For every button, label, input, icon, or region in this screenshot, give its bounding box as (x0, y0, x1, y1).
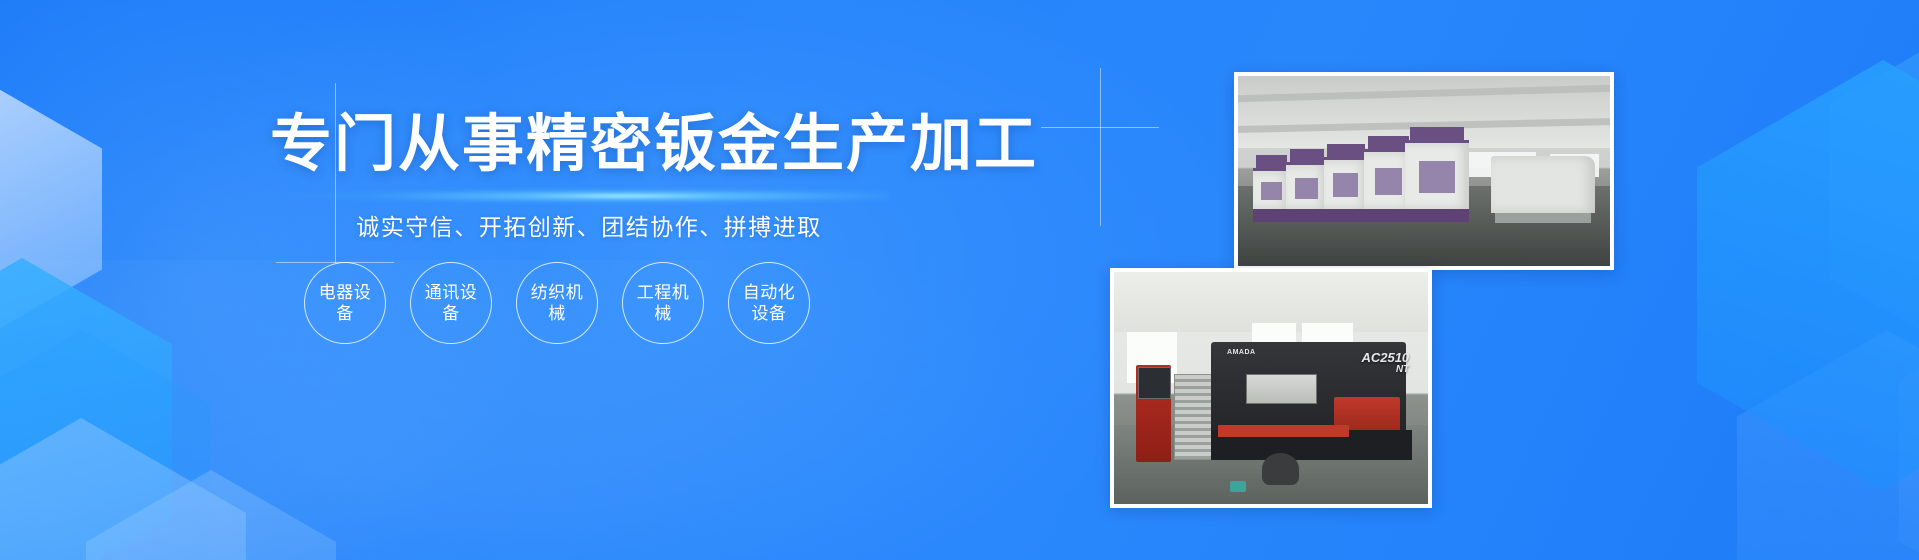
crosshair-horizontal-line (1041, 127, 1159, 128)
crosshair-vertical-line (1100, 68, 1101, 226)
machine-brand-label: AMADA (1227, 349, 1256, 356)
machine-control-panel (1246, 374, 1317, 404)
photo-content: AMADA AC2510 NT (1114, 272, 1428, 504)
banner-subtitle: 诚实守信、开拓创新、团结协作、拼搏进取 (274, 208, 904, 242)
cnc-machine (1405, 140, 1468, 210)
cnc-machine (1286, 162, 1327, 209)
control-screen (1138, 367, 1171, 399)
category-badge-label: 纺织机械 (526, 282, 588, 324)
category-badge[interactable]: 自动化设备 (728, 262, 810, 344)
headline-block: 专门从事精密钣金生产加工 (270, 112, 910, 179)
machine-model-label: AC2510 NT (1361, 351, 1409, 375)
machine-model-main: AC2510 (1361, 350, 1409, 365)
machine-model-suffix: NT (1361, 365, 1409, 376)
machine-roller (1262, 453, 1300, 485)
cnc-machine (1253, 168, 1290, 209)
category-badge-list: 电器设备 通讯设备 纺织机械 工程机械 自动化设备 (304, 262, 810, 344)
category-badge[interactable]: 纺织机械 (516, 262, 598, 344)
crosshair-decoration-right (1041, 68, 1159, 186)
cnc-machine (1324, 157, 1369, 209)
machine-red-bar (1218, 425, 1350, 437)
category-badge[interactable]: 电器设备 (304, 262, 386, 344)
category-badge-label: 通讯设备 (420, 282, 482, 324)
factory-photo-amada-turret-punch-press[interactable]: AMADA AC2510 NT (1110, 268, 1432, 508)
promo-banner: 专门从事精密钣金生产加工 诚实守信、开拓创新、团结协作、拼搏进取 电器设备 通讯… (0, 0, 1919, 560)
category-badge-label: 自动化设备 (738, 282, 800, 324)
category-badge[interactable]: 通讯设备 (410, 262, 492, 344)
cnc-machine (1491, 156, 1595, 213)
floor-bucket (1230, 481, 1246, 493)
photo-content (1238, 76, 1610, 266)
category-badge-label: 电器设备 (314, 282, 376, 324)
category-badge-label: 工程机械 (632, 282, 694, 324)
category-badge[interactable]: 工程机械 (622, 262, 704, 344)
headline-glow-underline (288, 188, 888, 204)
factory-photo-cnc-machining-center-row[interactable] (1234, 72, 1614, 270)
banner-headline: 专门从事精密钣金生产加工 (270, 112, 910, 179)
